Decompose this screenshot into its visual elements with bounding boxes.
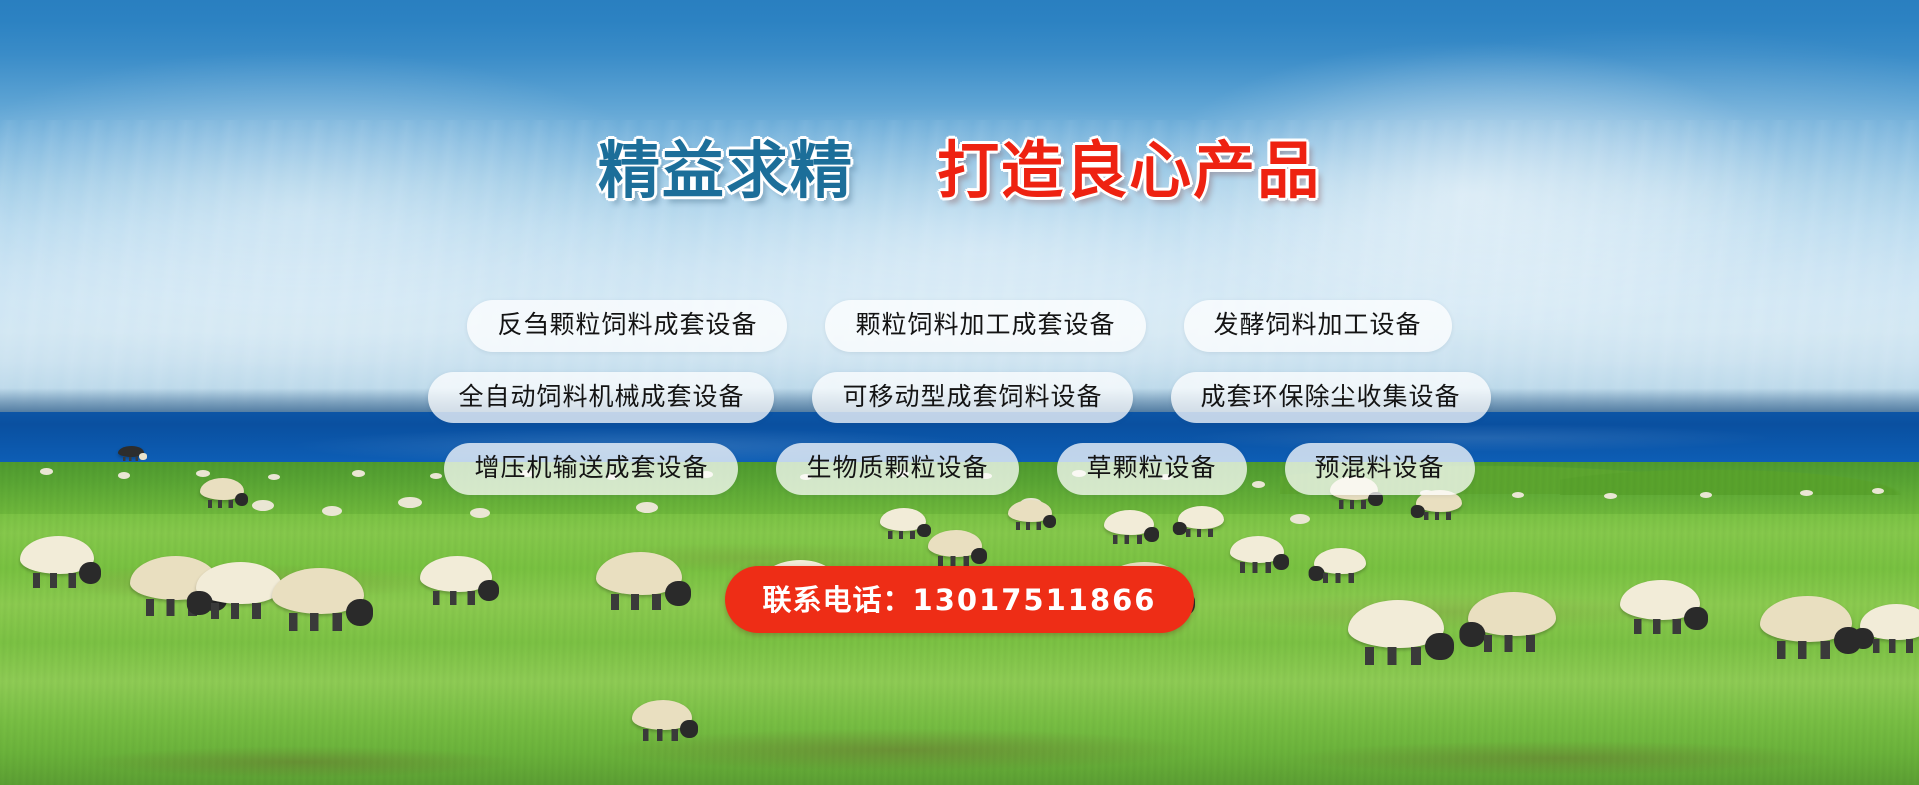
headline-segment-blue: 精益求精	[598, 134, 854, 207]
sheep	[1314, 548, 1366, 574]
product-category-list: 反刍颗粒饲料成套设备 颗粒饲料加工成套设备 发酵饲料加工设备 全自动饲料机械成套…	[0, 300, 1919, 515]
product-row-1: 反刍颗粒饲料成套设备 颗粒饲料加工成套设备 发酵饲料加工设备	[0, 300, 1919, 352]
product-pill[interactable]: 反刍颗粒饲料成套设备	[467, 300, 787, 352]
product-pill[interactable]: 发酵饲料加工设备	[1184, 300, 1452, 352]
sheep-foreground	[420, 556, 492, 592]
contact-phone-badge[interactable]: 联系电话：13017511866	[725, 566, 1195, 633]
product-pill[interactable]: 成套环保除尘收集设备	[1171, 372, 1491, 424]
headline-segment-red: 打造良心产品	[937, 134, 1321, 207]
sheep-midfield	[1290, 514, 1310, 524]
headline: 精益求精 打造良心产品	[0, 140, 1919, 202]
sheep-foreground	[1620, 580, 1700, 620]
sheep-foreground	[632, 700, 692, 730]
contact-phone-label: 联系电话：	[763, 583, 913, 617]
product-pill[interactable]: 增压机输送成套设备	[444, 443, 738, 495]
product-pill[interactable]: 生物质颗粒设备	[776, 443, 1018, 495]
sheep-foreground	[596, 552, 682, 595]
sheep-foreground	[20, 536, 94, 574]
product-pill[interactable]: 预混料设备	[1285, 443, 1475, 495]
sheep	[1230, 536, 1284, 563]
product-pill[interactable]: 草颗粒设备	[1057, 443, 1247, 495]
product-pill[interactable]: 颗粒饲料加工成套设备	[825, 300, 1145, 352]
sheep-foreground	[196, 562, 282, 604]
product-pill[interactable]: 可移动型成套饲料设备	[812, 372, 1132, 424]
contact-phone-number: 13017511866	[913, 583, 1157, 617]
sheep	[928, 530, 982, 557]
product-pill[interactable]: 全自动饲料机械成套设备	[428, 372, 774, 424]
product-row-3: 增压机输送成套设备 生物质颗粒设备 草颗粒设备 预混料设备	[0, 443, 1919, 495]
promo-banner: 精益求精 打造良心产品 反刍颗粒饲料成套设备 颗粒饲料加工成套设备 发酵饲料加工…	[0, 0, 1919, 785]
sheep-foreground	[1468, 592, 1556, 636]
product-row-2: 全自动饲料机械成套设备 可移动型成套饲料设备 成套环保除尘收集设备	[0, 372, 1919, 424]
